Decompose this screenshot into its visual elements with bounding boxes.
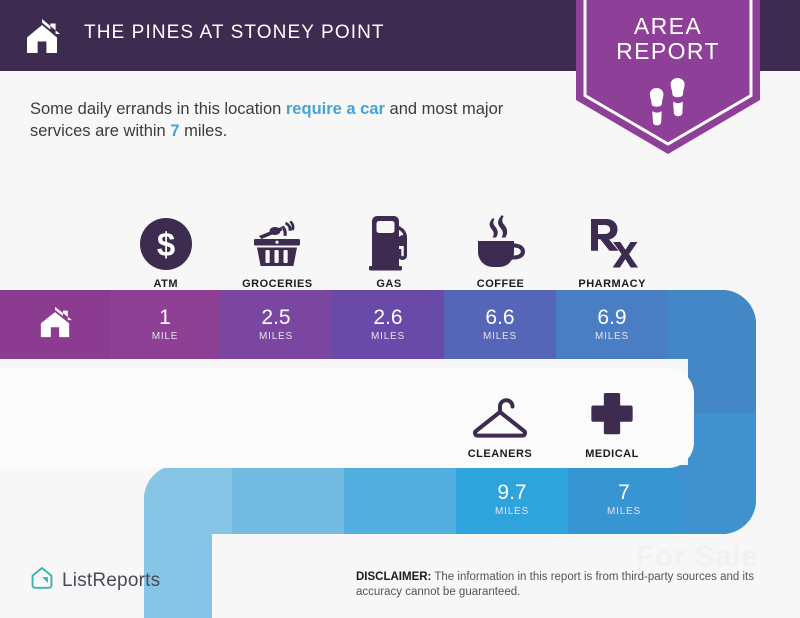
distance-cell-cleaners: 9.7 MILES bbox=[456, 465, 568, 534]
grocery-basket-icon bbox=[248, 213, 306, 271]
distance-cell-pharmacy: 6.9 MILES bbox=[556, 290, 668, 359]
summary-part-1: Some daily errands in this location bbox=[30, 100, 286, 118]
distance-cell-coffee: 6.6 MILES bbox=[444, 290, 556, 359]
distance-row-2: 9.7 MILES 7 MILES bbox=[144, 465, 756, 534]
badge-line-1: AREA bbox=[576, 14, 760, 39]
distance-value: 6.9 bbox=[597, 307, 626, 329]
amenity-medical: MEDICAL bbox=[556, 382, 668, 460]
area-report-infographic: THE PINES AT STONEY POINT AREA REPORT So… bbox=[0, 0, 800, 618]
distance-cell-groceries: 2.5 MILES bbox=[220, 290, 332, 359]
listreports-wordmark: ListReports bbox=[62, 570, 160, 592]
dollar-circle-icon: $ bbox=[139, 213, 193, 271]
for-sale-watermark: For Sale bbox=[636, 540, 758, 574]
distance-unit: MILES bbox=[495, 506, 529, 517]
badge-text: AREA REPORT bbox=[576, 14, 760, 64]
distance-unit: MILES bbox=[595, 331, 629, 342]
distance-cell-gas: 2.6 MILES bbox=[332, 290, 444, 359]
svg-text:$: $ bbox=[157, 226, 175, 263]
distance-cell-atm: 1 MILE bbox=[110, 290, 220, 359]
distance-value: 6.6 bbox=[485, 307, 514, 329]
distance-value: 7 bbox=[618, 482, 630, 504]
amenity-icon-row-1: $ ATM bbox=[110, 205, 668, 290]
page-title: THE PINES AT STONEY POINT bbox=[84, 22, 385, 44]
house-icon bbox=[22, 17, 62, 55]
area-report-badge: AREA REPORT bbox=[576, 0, 760, 154]
disclaimer: DISCLAIMER: The information in this repo… bbox=[356, 570, 776, 600]
amenity-label: CLEANERS bbox=[468, 448, 533, 460]
clothes-hanger-icon bbox=[469, 383, 531, 441]
distance-value: 2.6 bbox=[373, 307, 402, 329]
house-icon bbox=[36, 305, 74, 344]
amenity-coffee: COFFEE bbox=[445, 205, 557, 290]
coffee-cup-icon bbox=[471, 213, 531, 271]
amenity-label: MEDICAL bbox=[585, 448, 639, 460]
distance-cell-medical: 7 MILES bbox=[568, 465, 680, 534]
amenity-icon-row-2: CLEANERS MEDICAL bbox=[444, 382, 668, 460]
rx-pharmacy-icon bbox=[585, 213, 639, 271]
summary-highlight-2: 7 bbox=[170, 122, 179, 140]
distance-row-1: 1 MILE 2.5 MILES 2.6 MILES 6.6 MILES 6.9… bbox=[0, 290, 756, 359]
amenity-cleaners: CLEANERS bbox=[444, 382, 556, 460]
ribbon-tail-right-1 bbox=[668, 290, 756, 359]
ribbon-home-segment bbox=[0, 290, 110, 359]
ribbon-filler-3 bbox=[344, 465, 456, 534]
distance-unit: MILES bbox=[259, 331, 293, 342]
listreports-logo: ListReports bbox=[30, 566, 160, 595]
amenity-atm: $ ATM bbox=[110, 205, 222, 290]
gas-pump-icon bbox=[364, 213, 414, 271]
distance-value: 1 bbox=[159, 307, 171, 329]
distance-value: 2.5 bbox=[261, 307, 290, 329]
distance-unit: MILES bbox=[371, 331, 405, 342]
distance-unit: MILES bbox=[483, 331, 517, 342]
summary-part-3: miles. bbox=[180, 122, 228, 140]
badge-line-2: REPORT bbox=[576, 39, 760, 64]
summary-highlight-1: require a car bbox=[286, 100, 385, 118]
ribbon-tail-right-2 bbox=[680, 465, 756, 534]
medical-cross-icon bbox=[588, 383, 636, 441]
amenity-pharmacy: PHARMACY bbox=[556, 205, 668, 290]
amenity-gas: GAS bbox=[333, 205, 445, 290]
ribbon-filler-2 bbox=[232, 465, 344, 534]
ribbon-filler-1 bbox=[144, 465, 232, 534]
distance-unit: MILES bbox=[607, 506, 641, 517]
summary-text: Some daily errands in this location requ… bbox=[30, 98, 560, 142]
listreports-house-icon bbox=[30, 566, 54, 595]
distance-value: 9.7 bbox=[497, 482, 526, 504]
amenity-groceries: GROCERIES bbox=[222, 205, 334, 290]
distance-unit: MILE bbox=[152, 331, 179, 342]
disclaimer-label: DISCLAIMER: bbox=[356, 571, 431, 583]
